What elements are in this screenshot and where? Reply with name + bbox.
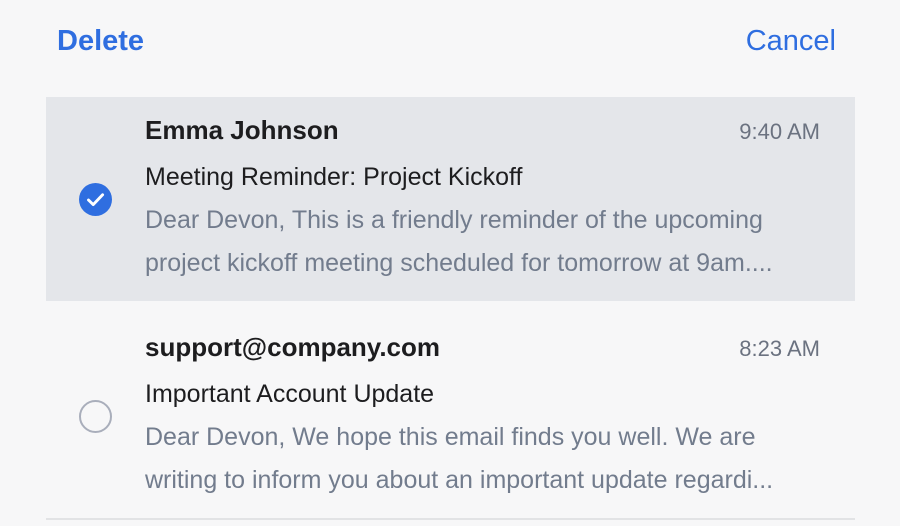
mail-sender: Emma Johnson <box>145 113 339 147</box>
mail-item-content: Emma Johnson 9:40 AM Meeting Reminder: P… <box>145 113 855 285</box>
action-bar: Delete Cancel <box>0 0 900 88</box>
select-checkbox-cell[interactable] <box>46 183 145 216</box>
mail-item-header-line: support@company.com 8:23 AM <box>145 330 820 366</box>
check-circle-filled-icon[interactable] <box>79 183 112 216</box>
mail-list: Emma Johnson 9:40 AM Meeting Reminder: P… <box>46 97 855 520</box>
circle-outline-icon[interactable] <box>79 400 112 433</box>
mail-subject: Important Account Update <box>145 376 820 412</box>
select-checkbox-cell[interactable] <box>46 400 145 433</box>
mail-preview: Dear Devon, This is a friendly reminder … <box>145 199 820 285</box>
mail-timestamp: 8:23 AM <box>739 332 820 366</box>
list-divider <box>46 518 855 520</box>
mail-selection-screen: Delete Cancel Emma Johnson 9:40 AM <box>0 0 900 526</box>
list-gap <box>46 301 855 314</box>
delete-button[interactable]: Delete <box>57 22 144 60</box>
mail-timestamp: 9:40 AM <box>739 115 820 149</box>
mail-list-item[interactable]: Emma Johnson 9:40 AM Meeting Reminder: P… <box>46 97 855 301</box>
cancel-button[interactable]: Cancel <box>746 22 836 60</box>
mail-item-content: support@company.com 8:23 AM Important Ac… <box>145 330 855 502</box>
mail-preview: Dear Devon, We hope this email finds you… <box>145 416 820 502</box>
mail-item-header-line: Emma Johnson 9:40 AM <box>145 113 820 149</box>
mail-subject: Meeting Reminder: Project Kickoff <box>145 159 820 195</box>
mail-list-item[interactable]: support@company.com 8:23 AM Important Ac… <box>46 314 855 518</box>
mail-sender: support@company.com <box>145 330 440 364</box>
